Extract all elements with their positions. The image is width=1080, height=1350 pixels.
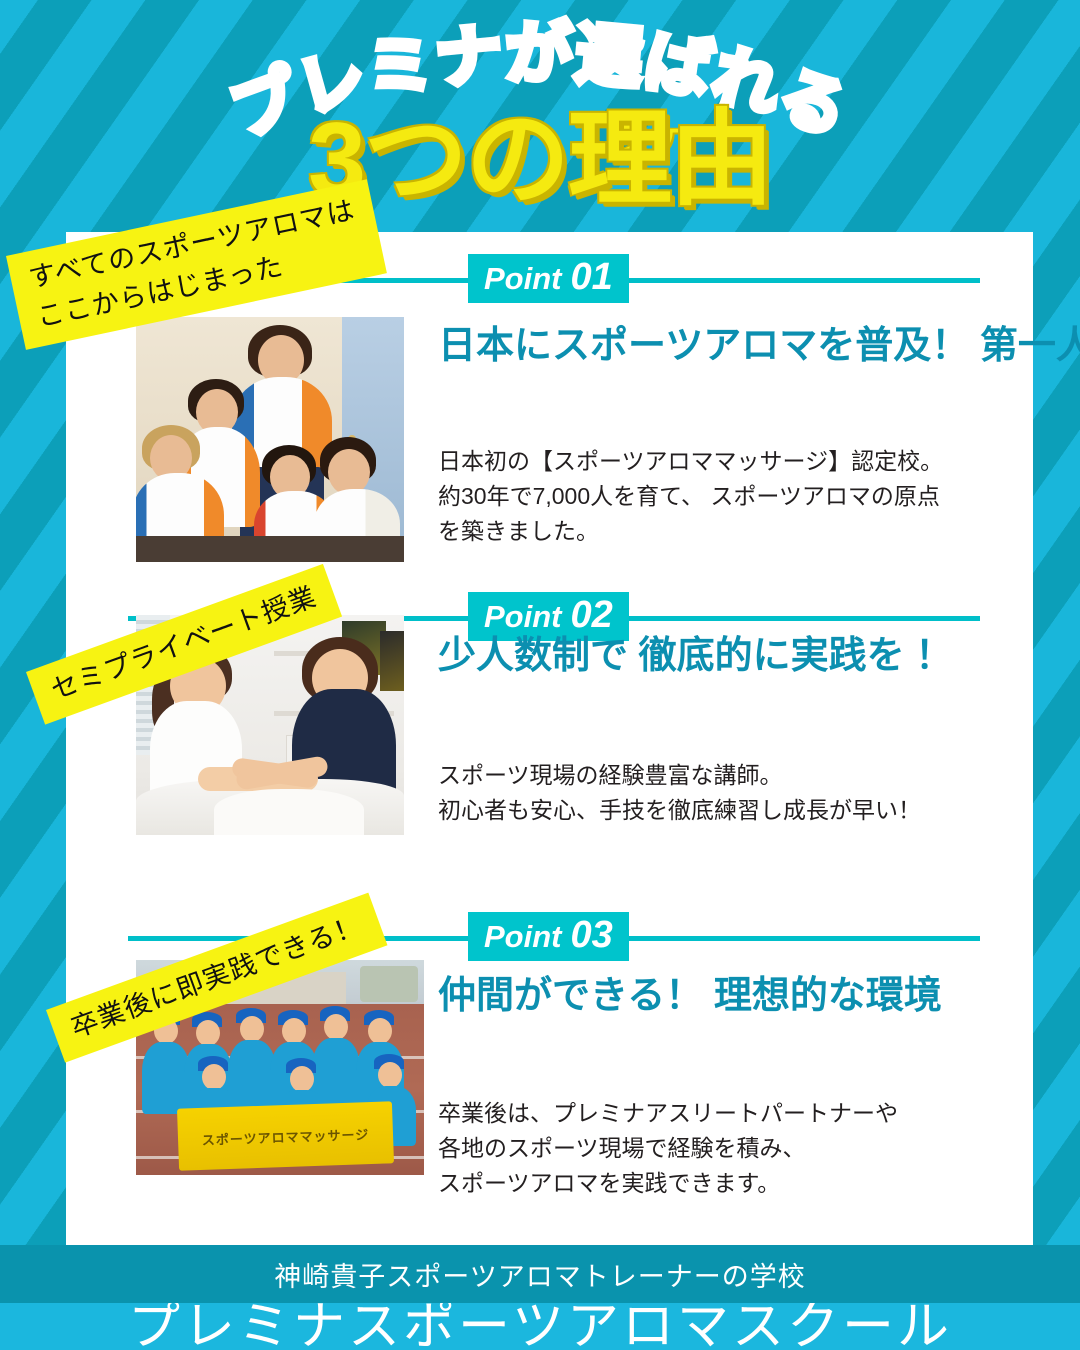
poster-header: プレミナが選ばれる ワケ 3つの理由 <box>0 0 1080 232</box>
body-01-line3: を築きました。 <box>438 514 943 549</box>
badge-number: 03 <box>571 916 613 954</box>
body-02-line2: 初心者も安心、手技を徹底練習し成長が早い！ <box>438 793 921 828</box>
point-badge-03: Point 03 <box>468 912 629 961</box>
footer-school-band: プレミナスポーツアロマスクール <box>0 1303 1080 1350</box>
badge-number: 01 <box>571 258 613 296</box>
body-03-line3: スポーツアロマを実践できます。 <box>438 1166 898 1201</box>
body-01-line1: 日本初の【スポーツアロママッサージ】認定校。 <box>438 444 943 479</box>
footer-school-name: プレミナスポーツアロマスクール <box>128 1303 952 1350</box>
headline-03-line1: 仲間ができる！ <box>438 970 703 1022</box>
badge-number: 02 <box>571 596 613 634</box>
body-02: スポーツ現場の経験豊富な講師。 初心者も安心、手技を徹底練習し成長が早い！ <box>438 758 921 828</box>
content-card: Point 01 <box>66 232 1033 1245</box>
headline-01-line1: 日本にスポーツアロマを普及！ <box>438 320 969 372</box>
footer-tagline: 神崎貴子スポーツアロマトレーナーの学校 <box>274 1255 805 1294</box>
headline-01-line2: 第一人者・神﨑貴子 <box>980 320 1080 372</box>
main-title: 3つの理由 <box>0 108 1080 212</box>
body-03-line2: 各地のスポーツ現場で経験を積み、 <box>438 1131 898 1166</box>
point-badge-01: Point 01 <box>468 254 629 303</box>
poster-canvas: プレミナが選ばれる ワケ 3つの理由 Point 01 <box>0 0 1080 1350</box>
body-01: 日本初の【スポーツアロママッサージ】認定校。 約30年で7,000人を育て、 ス… <box>438 444 943 549</box>
headline-01: 日本にスポーツアロマを普及！ 第一人者・神﨑貴子 <box>438 320 1080 372</box>
badge-word: Point <box>484 919 562 955</box>
body-02-line1: スポーツ現場の経験豊富な講師。 <box>438 758 921 793</box>
headline-02: 少人数制で 徹底的に実践を ！ <box>438 630 953 682</box>
headline-03: 仲間ができる！ 理想的な環境 <box>438 970 942 1022</box>
photo-point-01 <box>136 317 404 562</box>
photo-banner: スポーツアロママッサージ <box>177 1101 394 1170</box>
body-01-line2: 約30年で7,000人を育て、 スポーツアロマの原点 <box>438 479 943 514</box>
headline-02-line1: 少人数制で <box>438 630 628 682</box>
headline-03-line2: 理想的な環境 <box>714 970 942 1022</box>
body-03: 卒業後は、プレミナアスリートパートナーや 各地のスポーツ現場で経験を積み、 スポ… <box>438 1096 898 1201</box>
badge-word: Point <box>484 261 562 297</box>
point-section-03: Point 03 <box>66 890 1033 1245</box>
body-03-line1: 卒業後は、プレミナアスリートパートナーや <box>438 1096 898 1131</box>
headline-02-line2: 徹底的に実践を ！ <box>639 630 954 682</box>
photo-banner-text: スポーツアロママッサージ <box>201 1124 369 1149</box>
footer-tagline-band: 神崎貴子スポーツアロマトレーナーの学校 <box>0 1245 1080 1303</box>
